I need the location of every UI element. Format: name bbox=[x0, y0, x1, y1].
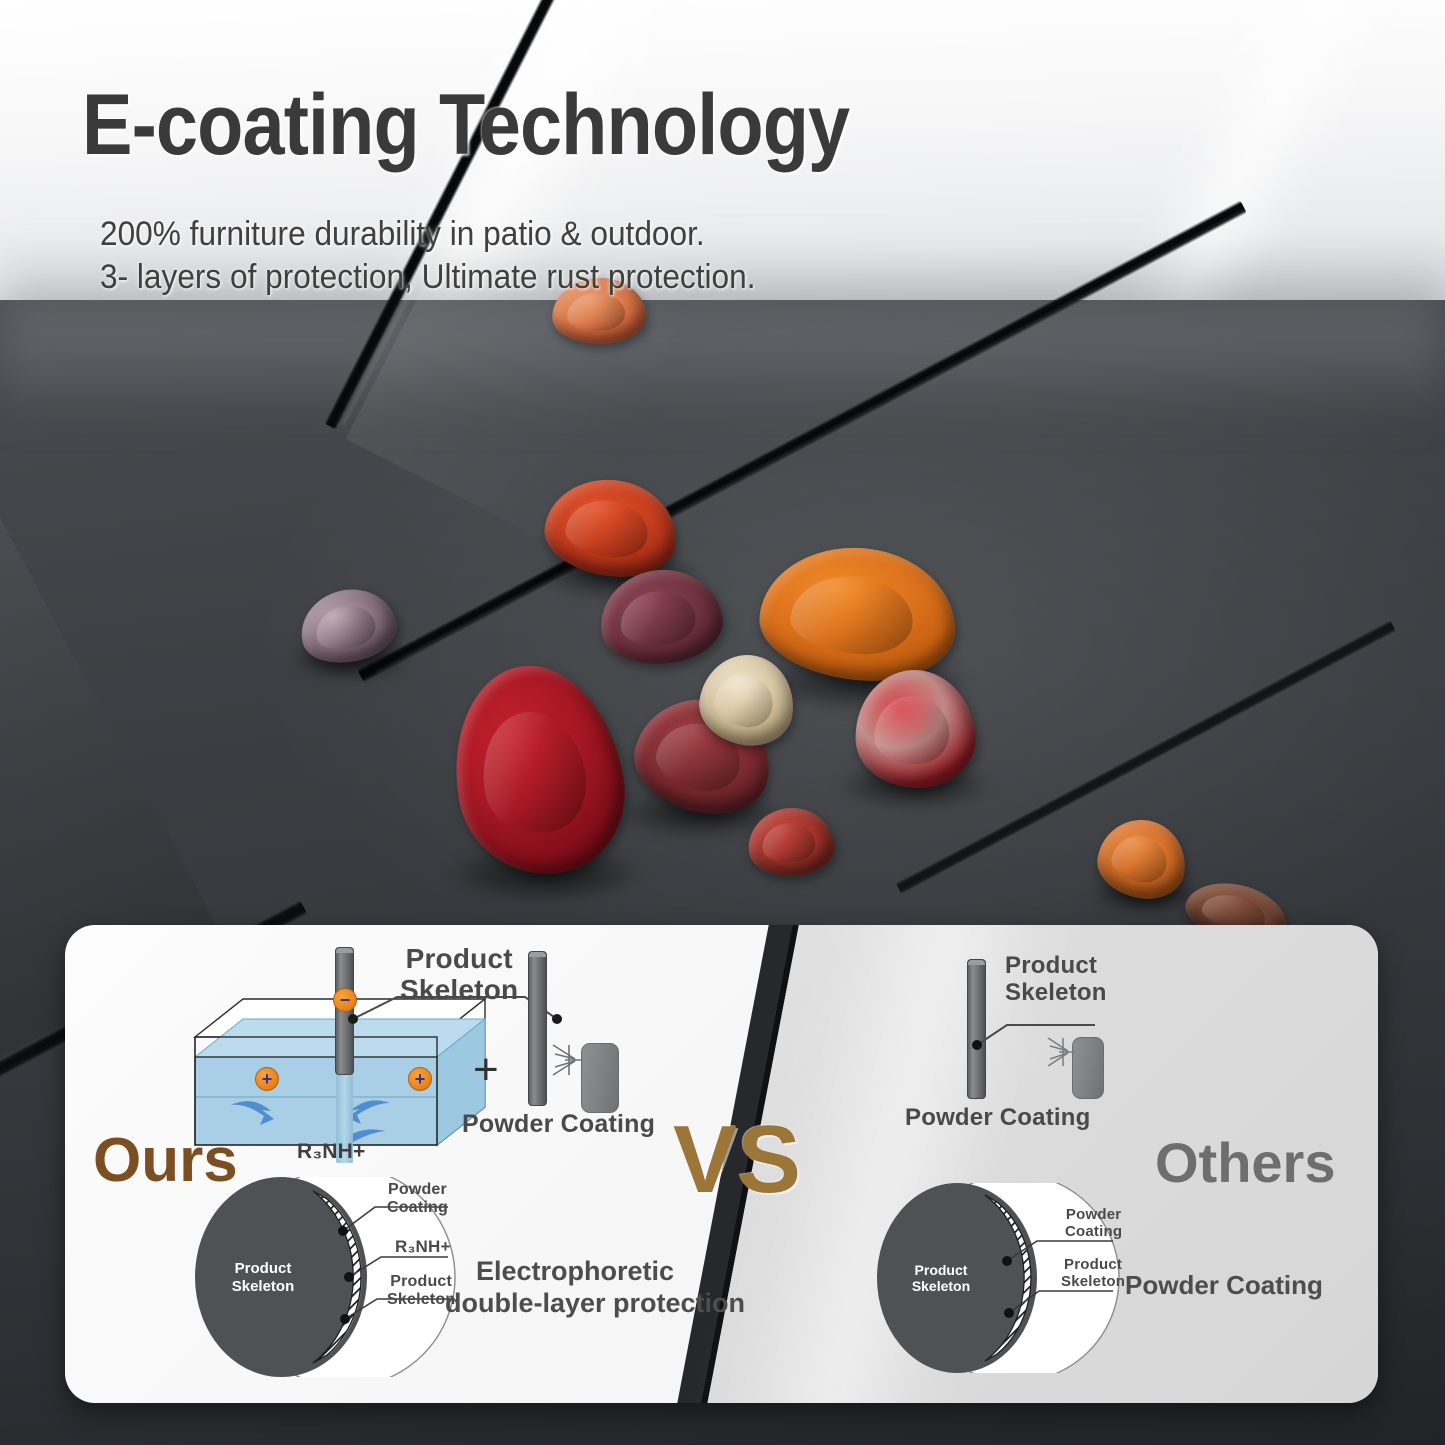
onion-skin-maroon-vein bbox=[616, 586, 698, 651]
ours-skeleton-label-line1: Product bbox=[400, 943, 518, 974]
others-layer-label-1: Product Skeleton bbox=[1061, 1257, 1125, 1291]
ours-layer-label-0: Powder Coating bbox=[387, 1181, 448, 1217]
ours-caption: Electrophoretic double-layer protection bbox=[445, 1255, 705, 1320]
plus-operator: + bbox=[473, 1045, 499, 1094]
others-skeleton-label-line2: Skeleton bbox=[1005, 980, 1107, 1007]
ours-powder-coating-label: Powder Coating bbox=[462, 1110, 655, 1138]
onion-skin-red-top bbox=[540, 473, 681, 582]
onion-bulb-pink-vein bbox=[872, 694, 951, 767]
onion-shell-orange-vein bbox=[789, 572, 916, 657]
comparison-card: − + + R₃NH+ Product Skeleton + bbox=[65, 925, 1378, 1403]
others-powder-coating-label: Powder Coating bbox=[905, 1105, 1090, 1132]
anion-charge-badge-right: + bbox=[408, 1067, 432, 1091]
rod-cap bbox=[336, 948, 353, 953]
ours-heading: Ours bbox=[93, 1125, 238, 1196]
onion-skin-orange-far bbox=[1092, 813, 1192, 905]
garlic-clove-white bbox=[694, 649, 800, 751]
ours-layer-label-1: R₃NH+ bbox=[395, 1237, 451, 1256]
onion-skin-red-top-vein bbox=[563, 497, 650, 561]
onion-skin-red-large-vein bbox=[472, 704, 594, 842]
ours-spray-lines-icon bbox=[549, 1039, 585, 1081]
others-caption: Powder Coating bbox=[1125, 1270, 1323, 1301]
others-heading: Others bbox=[1155, 1130, 1336, 1195]
subtitle-line-1: 200% furniture durability in patio & out… bbox=[100, 215, 705, 254]
rod-cap bbox=[529, 952, 546, 957]
subtitle-line-2: 3- layers of protection, Ultimate rust p… bbox=[100, 258, 756, 297]
svg-text:Product: Product bbox=[915, 1262, 968, 1278]
rod-cap bbox=[968, 960, 985, 965]
svg-text:Product: Product bbox=[235, 1260, 292, 1277]
garlic-clove-purple-vein bbox=[311, 600, 379, 655]
ours-caption-line-1: Electrophoretic bbox=[445, 1255, 705, 1287]
onion-bulb-pink-body bbox=[851, 666, 979, 792]
ours-leader-lines bbox=[335, 985, 635, 1045]
others-caption-line-1: Powder Coating bbox=[1125, 1270, 1323, 1301]
garlic-clove-white-vein bbox=[712, 671, 777, 731]
anion-charge-symbol: + bbox=[415, 1070, 426, 1088]
onion-skin-red-top-body bbox=[540, 473, 681, 582]
others-skeleton-label: Product Skeleton bbox=[1005, 953, 1107, 1007]
onion-skin-top-small-vein bbox=[566, 291, 626, 332]
vs-label: VS bbox=[673, 1105, 801, 1215]
anion-charge-badge-left: + bbox=[255, 1067, 279, 1091]
ours-powder-rod bbox=[528, 951, 547, 1106]
page-title: E-coating Technology bbox=[82, 76, 849, 175]
garlic-clove-white-body bbox=[694, 649, 800, 751]
solution-formula-label: R₃NH+ bbox=[297, 1140, 365, 1164]
others-spray-lines-icon bbox=[1045, 1033, 1077, 1071]
anion-charge-symbol: + bbox=[262, 1070, 273, 1088]
onion-skin-orange-far-body bbox=[1092, 813, 1192, 905]
onion-skin-small-vein bbox=[760, 821, 817, 866]
onion-skin-small bbox=[745, 804, 838, 881]
onion-skin-small-body bbox=[745, 804, 838, 881]
others-skeleton-label-line1: Product bbox=[1005, 953, 1107, 980]
ours-caption-line-2: double-layer protection bbox=[445, 1287, 705, 1319]
others-layer-label-0: Powder Coating bbox=[1065, 1207, 1122, 1241]
ours-spray-gun bbox=[581, 1043, 619, 1113]
onion-skin-orange-far-vein bbox=[1108, 832, 1170, 886]
svg-text:Skeleton: Skeleton bbox=[912, 1278, 970, 1294]
svg-text:Skeleton: Skeleton bbox=[232, 1278, 295, 1295]
onion-bulb-pink bbox=[851, 666, 979, 792]
